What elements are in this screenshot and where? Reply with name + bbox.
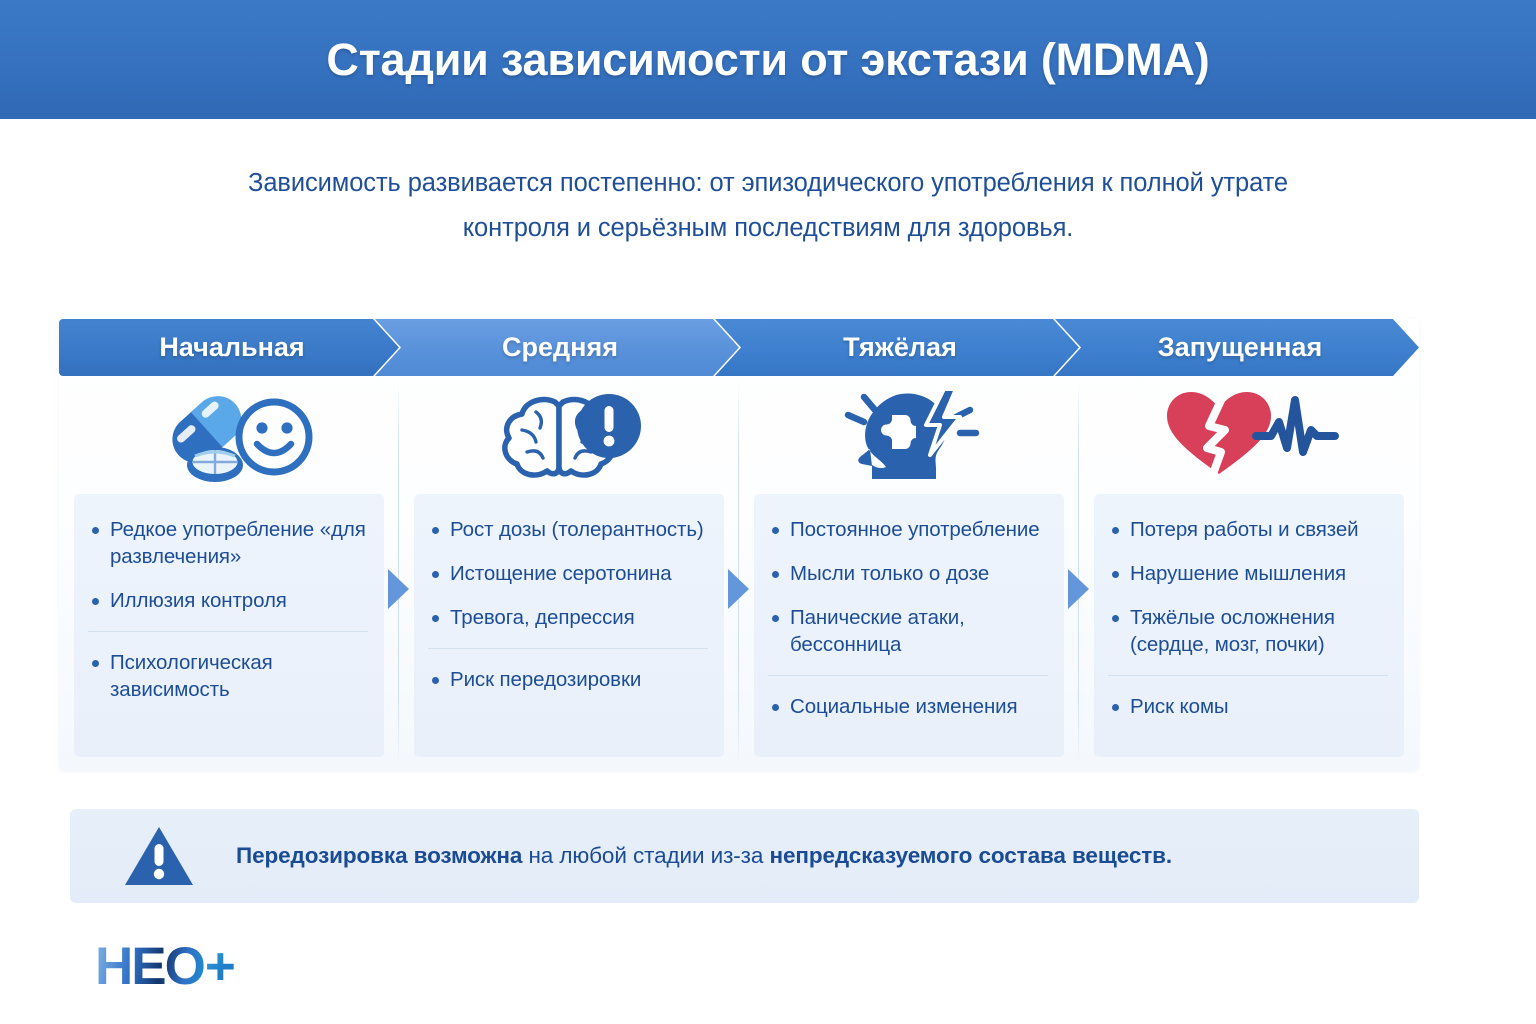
stage-bullets-wrap-3: Постоянное употребление Мысли только о д… <box>739 494 1079 771</box>
warning-triangle-icon <box>122 824 196 888</box>
list-item: Нарушение мышления <box>1108 560 1388 587</box>
stage-column-2[interactable]: Средняя <box>399 319 739 771</box>
stage-chevron-2[interactable]: Средняя <box>375 319 739 376</box>
list-item: Социальные изменения <box>768 675 1048 720</box>
stage-bullet-list-3: Постоянное употребление Мысли только о д… <box>768 516 1048 720</box>
stage-icon-area-4 <box>1079 376 1419 494</box>
stage-column-1[interactable]: Начальная <box>59 319 399 771</box>
list-item: Риск передозировки <box>428 648 708 693</box>
stage-label-3: Тяжёлая <box>843 332 957 363</box>
subtitle-line-1: Зависимость развивается постепенно: от э… <box>178 161 1358 206</box>
page-header: Стадии зависимости от экстази (MDMA) <box>0 0 1536 119</box>
warning-bold-start: Передозировка возможна <box>236 843 522 868</box>
warning-bold-end: непредсказуемого состава веществ. <box>769 843 1172 868</box>
stage-bullets-wrap-4: Потеря работы и связей Нарушение мышлени… <box>1079 494 1419 771</box>
stage-bullets-card-2: Рост дозы (толерантность) Истощение серо… <box>414 494 724 757</box>
stage-chevron-1[interactable]: Начальная <box>59 319 399 376</box>
subtitle-line-2: контроля и серьёзным последствиям для зд… <box>178 206 1358 251</box>
page-title: Стадии зависимости от экстази (MDMA) <box>326 34 1209 86</box>
stage-label-4: Запущенная <box>1158 332 1322 363</box>
logo-wordmark: НЕО <box>95 940 204 993</box>
list-item: Тревога, депрессия <box>428 604 708 631</box>
stage-bullets-card-1: Редкое употребление «для развлечения» Ил… <box>74 494 384 757</box>
stage-label-2: Средняя <box>502 332 618 363</box>
stage-connector-arrow-1 <box>388 569 409 609</box>
list-item: Тяжёлые осложнения (сердце, мозг, почки) <box>1108 604 1388 658</box>
stage-bullets-card-4: Потеря работы и связей Нарушение мышлени… <box>1094 494 1404 757</box>
pills-smiley-icon <box>145 386 313 484</box>
stages-columns: Начальная <box>59 319 1419 771</box>
subtitle-block: Зависимость развивается постепенно: от э… <box>178 119 1358 251</box>
warning-middle: на любой стадии из-за <box>522 843 769 868</box>
list-item: Психологическая зависимость <box>88 631 368 703</box>
stage-icon-area-3 <box>739 376 1079 494</box>
list-item: Истощение серотонина <box>428 560 708 587</box>
list-item: Риск комы <box>1108 675 1388 720</box>
broken-heart-ecg-icon <box>1159 386 1339 484</box>
stage-bullet-list-4: Потеря работы и связей Нарушение мышлени… <box>1108 516 1388 720</box>
stage-connector-arrow-3 <box>1068 569 1089 609</box>
stage-icon-area-2 <box>399 376 739 494</box>
stage-column-3[interactable]: Тяжёлая <box>739 319 1079 771</box>
list-item: Мысли только о дозе <box>768 560 1048 587</box>
warning-text: Передозировка возможна на любой стадии и… <box>236 843 1172 869</box>
list-item: Иллюзия контроля <box>88 587 368 614</box>
stage-column-4[interactable]: Запущенная Потеря работы и связей Наруше… <box>1079 319 1419 771</box>
brand-logo[interactable]: НЕО + <box>95 940 236 993</box>
stage-chevron-3[interactable]: Тяжёлая <box>715 319 1079 376</box>
stage-bullets-wrap-2: Рост дозы (толерантность) Истощение серо… <box>399 494 739 771</box>
stage-bullet-list-2: Рост дозы (толерантность) Истощение серо… <box>428 516 708 693</box>
head-puzzle-lightning-icon <box>834 383 984 487</box>
list-item: Рост дозы (толерантность) <box>428 516 708 543</box>
stage-connector-arrow-2 <box>728 569 749 609</box>
list-item: Постоянное употребление <box>768 516 1048 543</box>
warning-banner: Передозировка возможна на любой стадии и… <box>70 809 1419 903</box>
stage-label-1: Начальная <box>159 332 304 363</box>
stage-bullets-card-3: Постоянное употребление Мысли только о д… <box>754 494 1064 757</box>
brain-alert-icon <box>489 386 649 484</box>
list-item: Потеря работы и связей <box>1108 516 1388 543</box>
logo-plus-icon: + <box>205 940 236 993</box>
stage-bullets-wrap-1: Редкое употребление «для развлечения» Ил… <box>59 494 399 771</box>
list-item: Редкое употребление «для развлечения» <box>88 516 368 570</box>
stage-bullet-list-1: Редкое употребление «для развлечения» Ил… <box>88 516 368 703</box>
stage-chevron-4[interactable]: Запущенная <box>1055 319 1419 376</box>
stage-icon-area-1 <box>59 376 399 494</box>
stages-board: Начальная <box>59 319 1419 771</box>
list-item: Панические атаки, бессонница <box>768 604 1048 658</box>
